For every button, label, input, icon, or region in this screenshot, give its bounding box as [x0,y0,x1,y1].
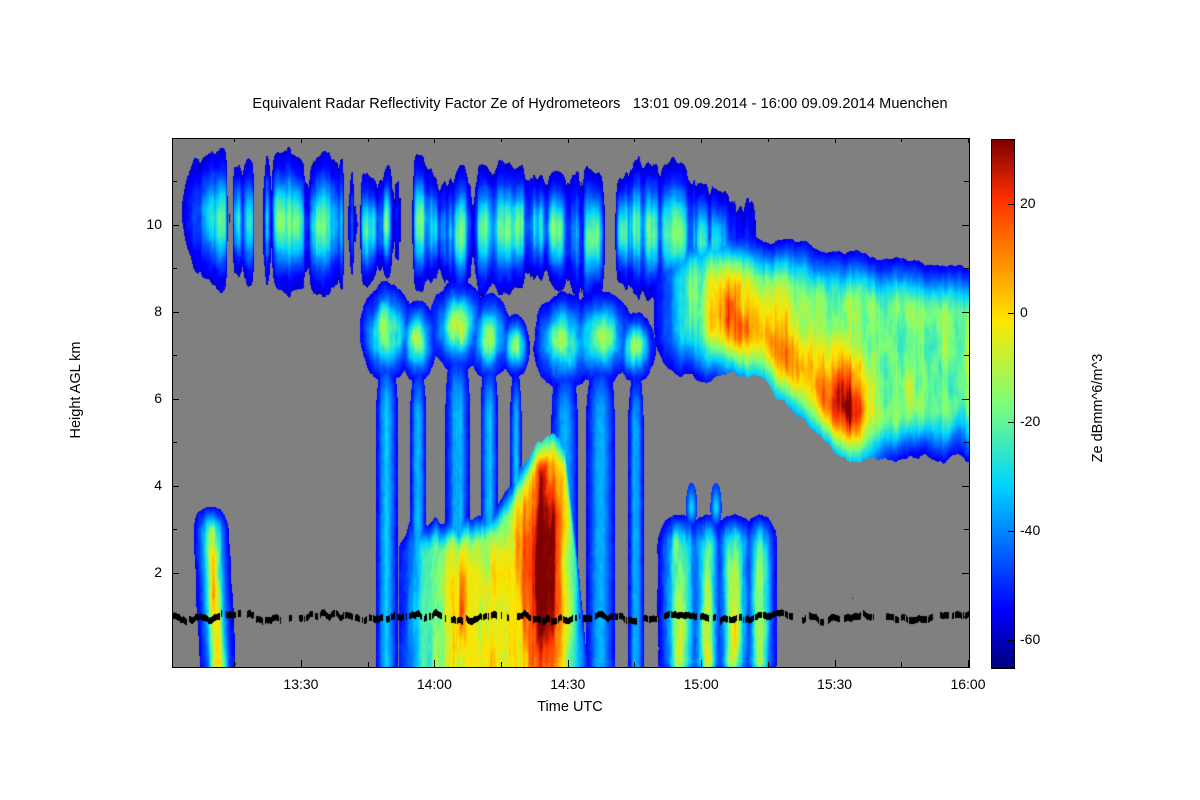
plot-axes [172,138,970,668]
y-tick-minor-right [964,529,969,530]
y-tick-major [172,399,179,400]
x-tick-major [568,660,569,667]
colorbar-tick-label: -60 [1020,631,1070,647]
x-tick-major-top [434,138,435,143]
y-tick-major-right [962,486,969,487]
x-tick-minor-top [634,138,635,142]
y-tick-major [172,573,179,574]
radar-plot-figure: Equivalent Radar Reflectivity Factor Ze … [0,0,1200,800]
colorbar-tick-label: 0 [1020,304,1070,320]
x-axis-label: Time UTC [172,699,968,715]
y-tick-minor-right [964,268,969,269]
y-tick-label: 6 [122,390,162,406]
x-tick-label: 14:00 [389,676,479,692]
x-tick-major [968,660,969,667]
x-tick-label: 15:30 [790,676,880,692]
x-tick-major [701,660,702,667]
x-tick-minor-top [768,138,769,142]
colorbar-tick [1008,313,1014,314]
y-tick-label: 4 [122,477,162,493]
x-tick-minor [234,662,235,667]
x-tick-minor [634,662,635,667]
y-tick-minor-right [964,616,969,617]
colorbar-tick [1008,204,1014,205]
x-tick-minor-top [368,138,369,142]
page-title: Equivalent Radar Reflectivity Factor Ze … [0,96,1200,112]
x-tick-minor-top [901,138,902,142]
colorbar-tick [1008,531,1014,532]
x-tick-label: 13:30 [256,676,346,692]
y-tick-major-right [962,225,969,226]
x-tick-label: 15:00 [656,676,746,692]
y-tick-minor-right [964,442,969,443]
y-tick-label: 10 [122,216,162,232]
x-tick-major [301,660,302,667]
x-tick-major-top [301,138,302,143]
colorbar-tick [1008,422,1014,423]
y-tick-minor [172,181,177,182]
x-tick-minor [901,662,902,667]
x-tick-major [434,660,435,667]
colorbar-tick [1008,640,1014,641]
y-tick-minor [172,268,177,269]
x-tick-minor-top [501,138,502,142]
y-tick-minor-right [964,355,969,356]
x-tick-major-top [701,138,702,143]
y-axis-label: Height AGL km [68,290,84,490]
colorbar-gradient [992,140,1014,668]
y-tick-minor [172,616,177,617]
y-tick-major [172,486,179,487]
y-tick-major-right [962,573,969,574]
x-tick-major-top [835,138,836,143]
colorbar-tick-label: -40 [1020,522,1070,538]
y-tick-label: 2 [122,564,162,580]
y-tick-minor [172,355,177,356]
y-tick-minor-right [964,181,969,182]
y-tick-label: 8 [122,303,162,319]
x-tick-minor [368,662,369,667]
x-tick-major-top [968,138,969,143]
y-tick-major [172,312,179,313]
x-tick-major-top [568,138,569,143]
y-tick-minor [172,442,177,443]
colorbar-label: Ze dBmm^6/m^3 [1090,288,1106,528]
y-tick-major [172,225,179,226]
radar-reflectivity-heatmap [173,139,969,667]
y-tick-major-right [962,312,969,313]
x-tick-minor [768,662,769,667]
colorbar-tick-label: 20 [1020,195,1070,211]
x-tick-minor-top [234,138,235,142]
x-tick-label: 16:00 [923,676,1013,692]
colorbar-tick-label: -20 [1020,413,1070,429]
y-tick-minor [172,529,177,530]
x-tick-major [835,660,836,667]
x-tick-label: 14:30 [523,676,613,692]
colorbar [991,139,1015,669]
y-tick-major-right [962,399,969,400]
x-tick-minor [501,662,502,667]
